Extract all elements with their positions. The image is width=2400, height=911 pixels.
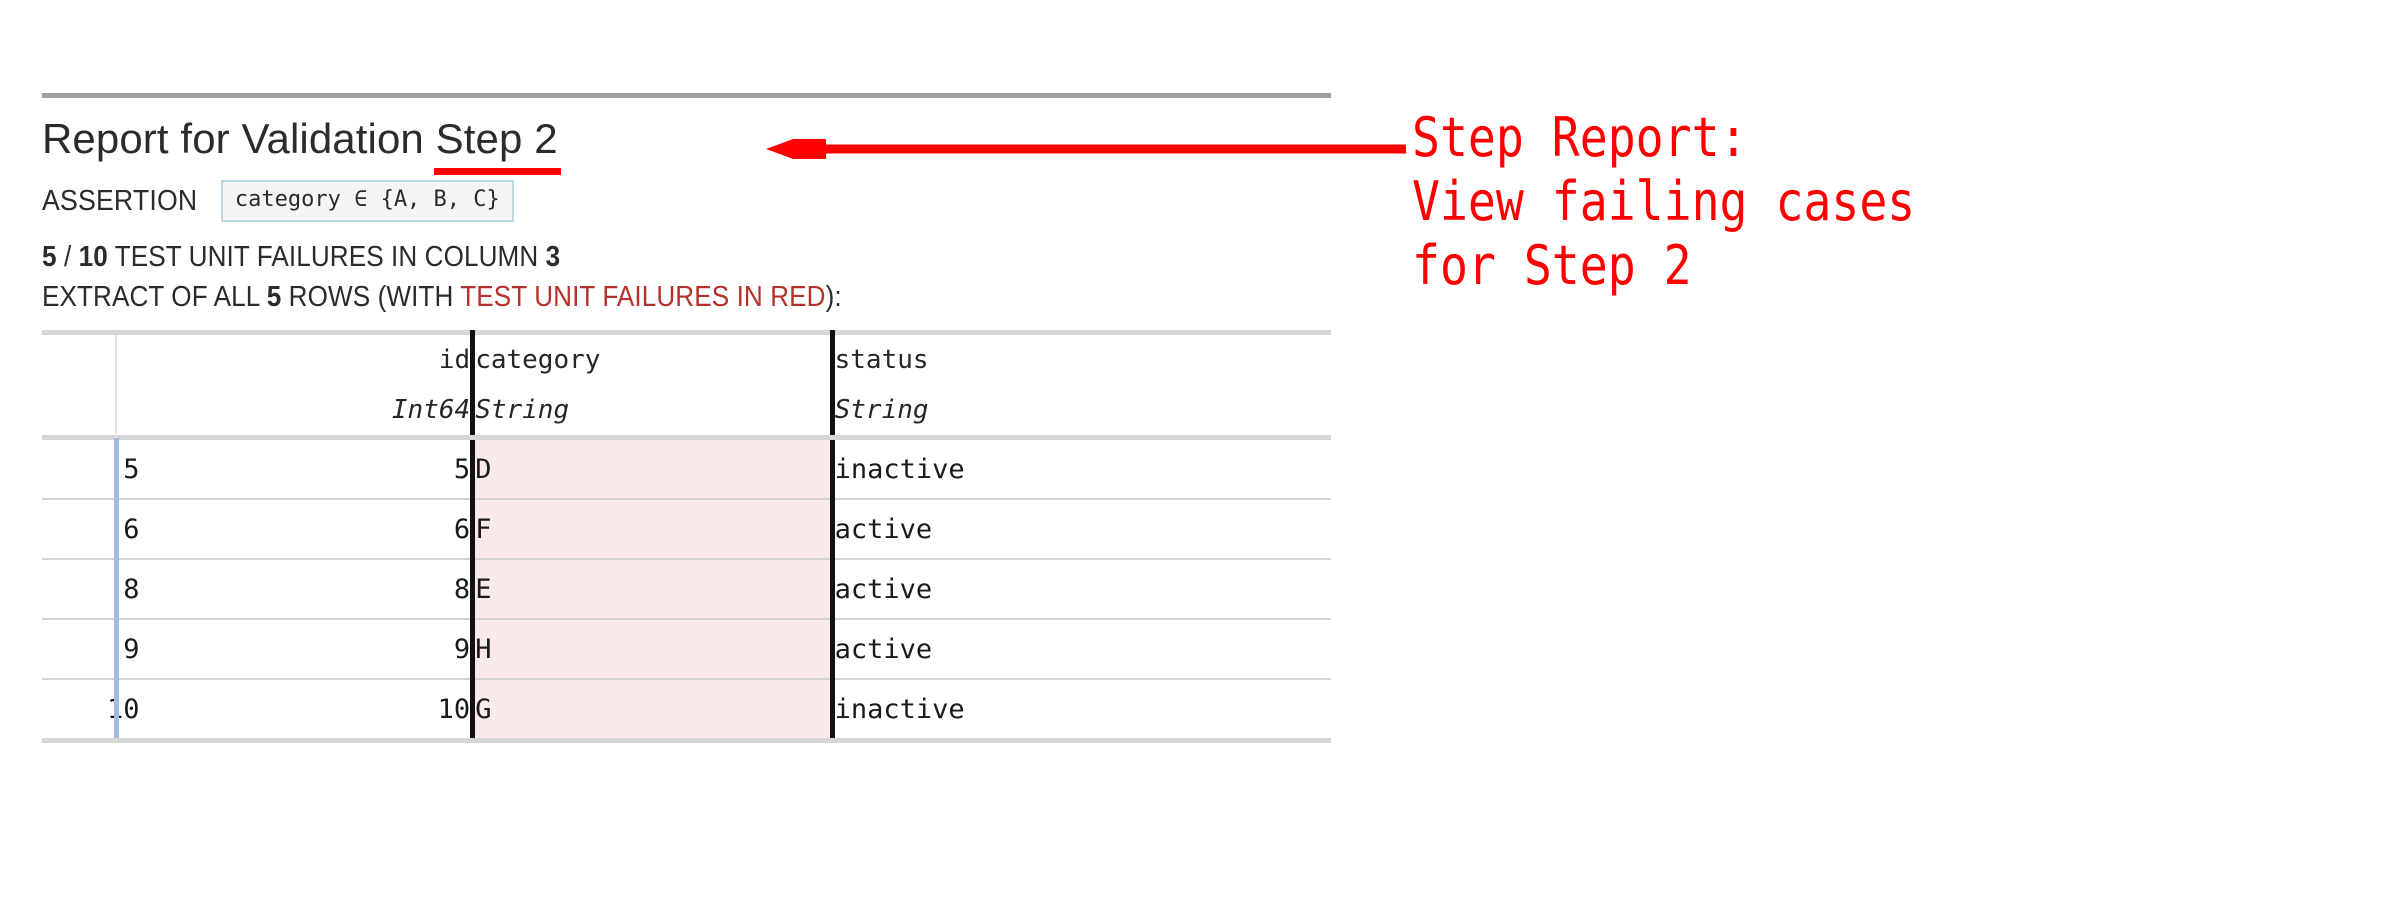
column-header-id: id (154, 333, 473, 386)
column-type-id: Int64 (154, 385, 473, 435)
extract-mid: ROWS (WITH (281, 281, 460, 313)
cell-category-failed: E (473, 559, 832, 619)
cell-status: active (832, 559, 1331, 619)
annotation-line-1: Step Report: (1412, 106, 1748, 169)
cell-category-failed: G (473, 679, 832, 738)
header-gutter-line (115, 335, 117, 438)
extract-line: EXTRACT OF ALL 5 ROWS (WITH TEST UNIT FA… (42, 277, 1331, 317)
cell-status: active (832, 619, 1331, 679)
cell-id: 6 (154, 499, 473, 559)
extract-suffix: ): (826, 281, 842, 313)
column-type-category: String (473, 385, 832, 435)
report-top-rule (42, 93, 1331, 98)
table-row[interactable]: 6 6 F active (42, 499, 1331, 559)
extract-prefix: EXTRACT OF ALL (42, 281, 267, 313)
assertion-expression-badge: category ∈ {A, B, C} (221, 180, 514, 222)
cell-id: 10 (154, 679, 473, 738)
annotation-line-3: for Step 2 (1412, 234, 1692, 297)
table-row[interactable]: 10 10 G inactive (42, 679, 1331, 738)
cell-status: inactive (832, 438, 1331, 500)
column-type-status: String (832, 385, 1331, 435)
annotation-arrow-icon (766, 139, 1406, 159)
count-separator: / (57, 241, 79, 273)
header-index-corner (42, 333, 154, 386)
assertion-label: ASSERTION (42, 185, 197, 218)
page-title-step: Step 2 (436, 115, 558, 163)
column-header-status: status (832, 333, 1331, 386)
row-index: 8 (42, 559, 154, 619)
extract-row-count: 5 (267, 281, 282, 313)
header-type-corner (42, 385, 154, 435)
table-row[interactable]: 9 9 H active (42, 619, 1331, 679)
failure-stats-block: 5 / 10 TEST UNIT FAILURES IN COLUMN 3 EX… (42, 237, 1331, 317)
cell-status: active (832, 499, 1331, 559)
page-title-prefix: Report for Validation (42, 115, 436, 162)
annotation-callout-text: Step Report: View failing cases for Step… (1412, 106, 1915, 298)
table-header-type-row: Int64 String String (42, 385, 1331, 435)
failure-count-line: 5 / 10 TEST UNIT FAILURES IN COLUMN 3 (42, 237, 1331, 277)
table-header-name-row: id category status (42, 333, 1331, 386)
total-count: 10 (79, 241, 108, 273)
row-index-gutter-line (114, 438, 119, 739)
table-bottom-rule (42, 738, 1331, 743)
failing-rows-table: id category status Int64 String String (42, 330, 1331, 738)
cell-id: 5 (154, 438, 473, 500)
table-row[interactable]: 5 5 D inactive (42, 438, 1331, 500)
cell-id: 8 (154, 559, 473, 619)
row-index: 6 (42, 499, 154, 559)
results-table-wrapper: id category status Int64 String String (42, 330, 1331, 743)
extract-red-legend: TEST UNIT FAILURES IN RED (460, 281, 825, 313)
cell-id: 9 (154, 619, 473, 679)
assertion-row: ASSERTION category ∈ {A, B, C} (42, 181, 1331, 221)
validation-step-report-card: Report for Validation Step 2 ASSERTION c… (42, 93, 1331, 743)
cell-status: inactive (832, 679, 1331, 738)
failure-line-text: TEST UNIT FAILURES IN COLUMN (108, 241, 546, 273)
table-row[interactable]: 8 8 E active (42, 559, 1331, 619)
failure-column-number: 3 (546, 241, 561, 273)
row-index: 10 (42, 679, 154, 738)
cell-category-failed: H (473, 619, 832, 679)
row-index: 5 (42, 438, 154, 500)
column-header-category: category (473, 333, 832, 386)
failed-count: 5 (42, 241, 57, 273)
cell-category-failed: F (473, 499, 832, 559)
annotation-line-2: View failing cases (1412, 170, 1915, 233)
row-index: 9 (42, 619, 154, 679)
cell-category-failed: D (473, 438, 832, 500)
